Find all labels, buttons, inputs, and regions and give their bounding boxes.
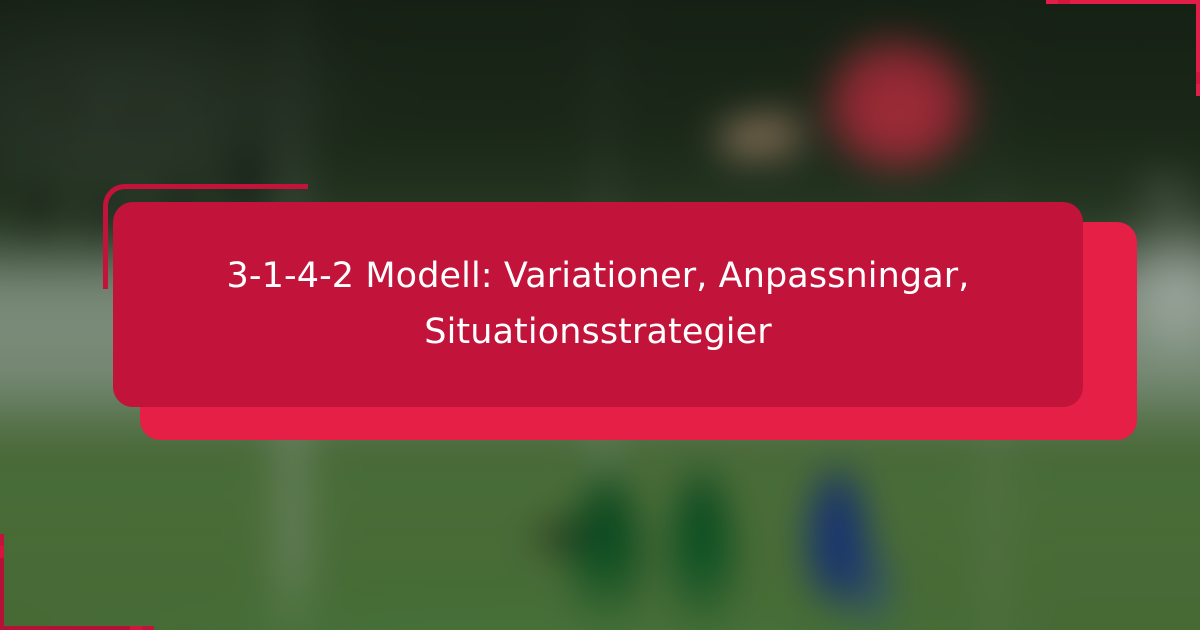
title-plate-group: 3-1-4-2 Modell: Variationer, Anpassninga… xyxy=(103,184,1103,444)
share-card-canvas: 3-1-4-2 Modell: Variationer, Anpassninga… xyxy=(0,0,1200,630)
page-title: 3-1-4-2 Modell: Variationer, Anpassninga… xyxy=(162,249,1034,360)
title-plate-front: 3-1-4-2 Modell: Variationer, Anpassninga… xyxy=(113,202,1083,407)
